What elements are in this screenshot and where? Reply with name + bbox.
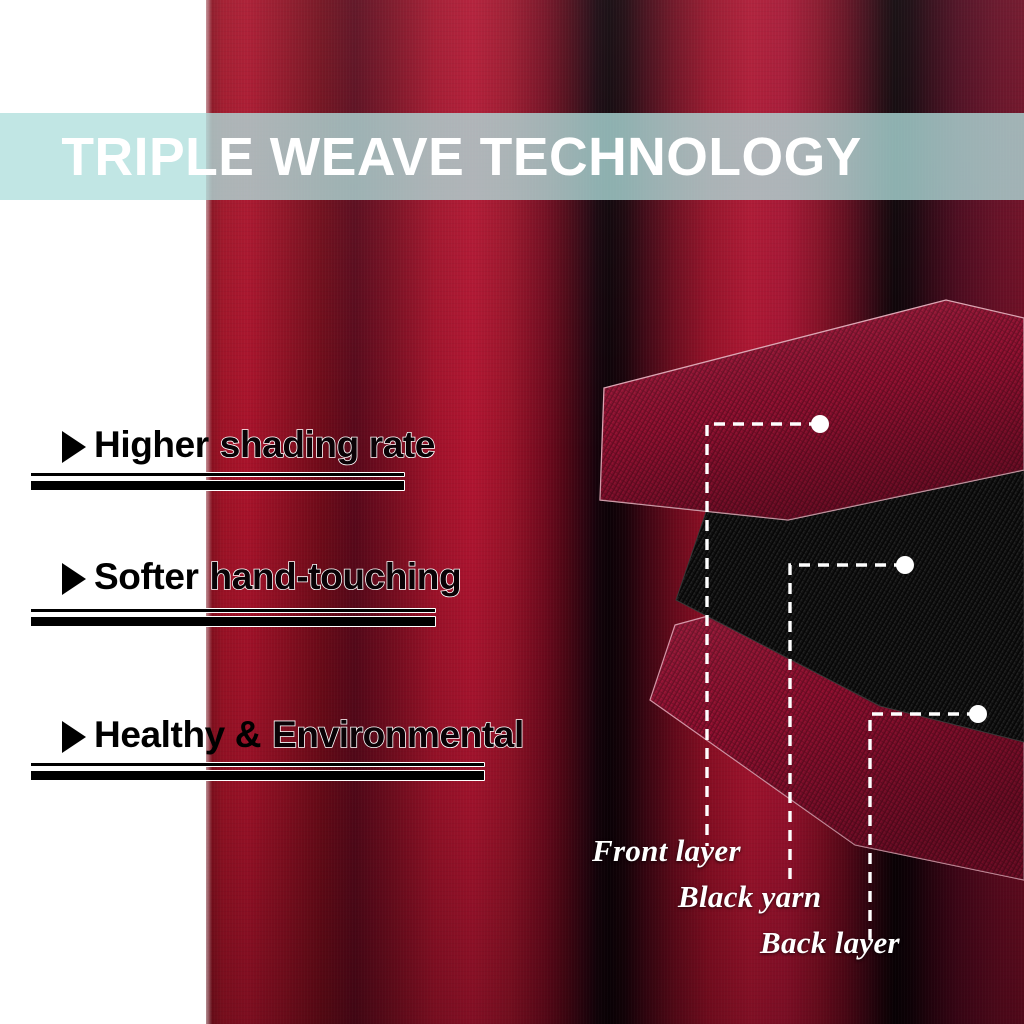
layer-label-front-layer: Front layer	[592, 833, 741, 869]
banner-title: TRIPLE WEAVE TECHNOLOGY	[0, 130, 862, 184]
triangle-right-icon	[62, 563, 86, 595]
feature-lead-text: Healthy &	[94, 716, 261, 753]
feature-lead-text: Softer	[94, 558, 199, 595]
product-infographic: Front layer Black yarn Back layer TRIPLE…	[0, 0, 1024, 1024]
layer-label-back-layer: Back layer	[760, 925, 900, 961]
feature-item-softer-hand-touching: Softer hand-touching	[62, 557, 461, 595]
triangle-right-icon	[62, 721, 86, 753]
feature-rest-text: shading rate	[220, 426, 435, 463]
feature-rest-text: hand-touching	[210, 558, 462, 595]
feature-rest-text: Environmental	[272, 716, 524, 753]
feature-item-healthy-environmental: Healthy & Environmental	[62, 715, 524, 753]
feature-item-higher-shading-rate: Higher shading rate	[62, 425, 435, 463]
feature-lead-text: Higher	[94, 426, 209, 463]
triangle-right-icon	[62, 431, 86, 463]
header-banner: TRIPLE WEAVE TECHNOLOGY	[0, 113, 1024, 200]
layer-label-black-yarn: Black yarn	[678, 879, 821, 915]
